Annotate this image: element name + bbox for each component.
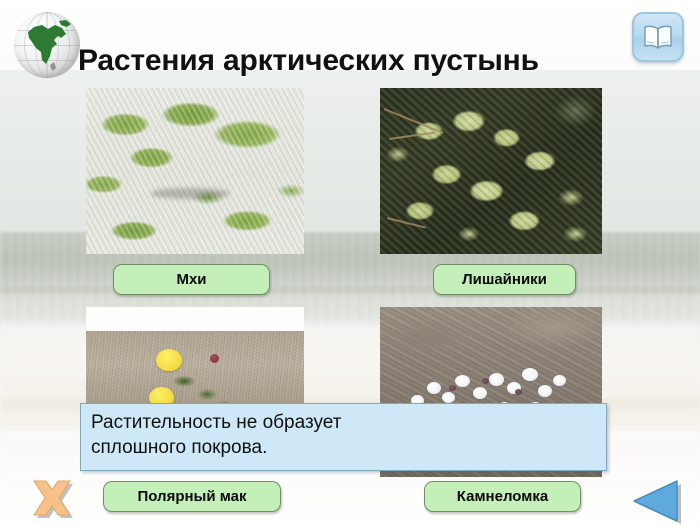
triangle-left-icon — [628, 478, 690, 524]
open-book-button[interactable] — [632, 12, 684, 62]
label-moss[interactable]: Мхи — [113, 264, 270, 295]
open-book-icon — [642, 24, 674, 50]
label-lichen[interactable]: Лишайники — [433, 264, 576, 295]
photo-lichen — [380, 88, 602, 254]
x-cross-icon — [22, 478, 78, 522]
page-title: Растения арктических пустынь — [78, 44, 539, 78]
label-polar-poppy[interactable]: Полярный мак — [103, 481, 281, 512]
info-textbox-line1: Растительность не образует — [91, 411, 606, 436]
label-saxifrage[interactable]: Камнеломка — [424, 481, 581, 512]
globe-north-america-icon — [14, 12, 80, 78]
back-button[interactable] — [628, 478, 690, 524]
info-textbox-line2: сплошного покрова. — [91, 436, 606, 461]
info-textbox: Растительность не образует сплошного пок… — [80, 403, 607, 471]
slide-root: Растения арктических пустынь — [0, 0, 700, 525]
photo-moss — [86, 88, 304, 254]
close-button[interactable] — [22, 478, 78, 522]
